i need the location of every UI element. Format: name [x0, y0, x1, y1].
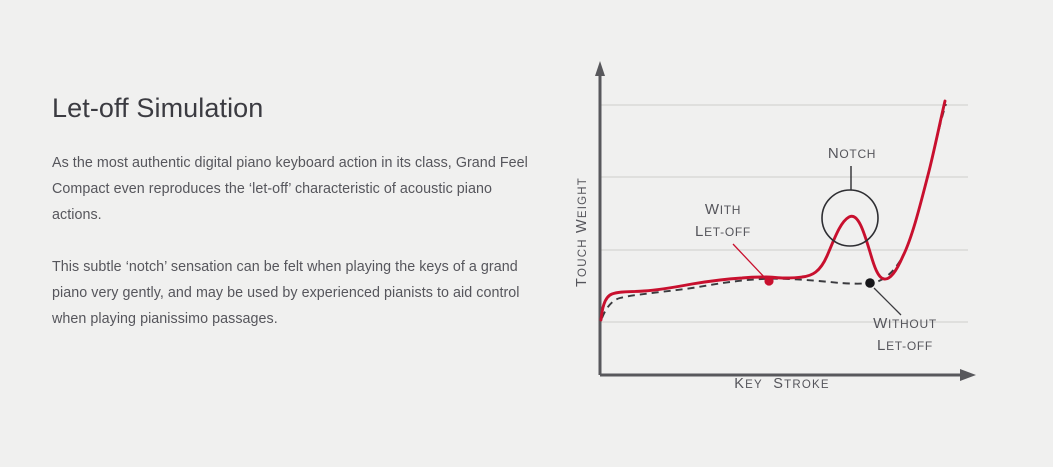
x-axis-arrow-icon — [960, 369, 976, 381]
without-label2-cap: L — [877, 337, 886, 354]
without-label-rest: ITHOUT — [888, 317, 937, 331]
x-axis-title-cap1: K — [734, 376, 745, 392]
without-label-cap: W — [873, 315, 888, 332]
without-let-off-leader-line — [874, 288, 901, 315]
x-axis-title: KEY STROKE — [734, 376, 830, 392]
article-paragraph-2: This subtle ‘notch’ sensation can be fel… — [52, 254, 532, 332]
with-label-rest: ITH — [720, 203, 741, 217]
y-axis-title-cap1: T — [574, 277, 590, 287]
without-let-off-callout-line2: LET-OFF — [877, 337, 933, 354]
without-let-off-marker-dot — [865, 278, 875, 288]
chart-svg: NOTCH WITH LET-OFF WITHOUT LET-OFF KEY S… — [560, 45, 1000, 405]
notch-callout-label: NOTCH — [828, 145, 876, 162]
y-axis-title-rest2: EIGHT — [577, 177, 589, 218]
notch-label-cap: N — [828, 145, 840, 162]
with-let-off-marker-dot — [764, 276, 773, 285]
series-with-let-off-line — [601, 101, 945, 320]
with-let-off-callout-line2: LET-OFF — [695, 223, 751, 240]
series-without-let-off-line — [602, 104, 946, 318]
x-axis-title-cap2: S — [773, 376, 784, 392]
x-axis-title-rest1: EY — [745, 379, 763, 391]
let-off-chart: NOTCH WITH LET-OFF WITHOUT LET-OFF KEY S… — [560, 45, 1000, 405]
x-axis-title-rest2: TROKE — [784, 379, 830, 391]
page-root: Let-off Simulation As the most authentic… — [0, 0, 1053, 467]
with-label-cap: W — [705, 201, 720, 218]
article-text-column: Let-off Simulation As the most authentic… — [52, 92, 532, 332]
y-axis-arrow-icon — [595, 61, 605, 76]
y-axis-title: TOUCH WEIGHT — [574, 177, 590, 287]
article-paragraph-1: As the most authentic digital piano keyb… — [52, 150, 532, 228]
y-axis-title-rest1: OUCH — [577, 238, 589, 277]
without-let-off-callout-line1: WITHOUT — [873, 315, 937, 332]
with-let-off-callout-line1: WITH — [705, 201, 741, 218]
chart-axes — [595, 61, 976, 381]
with-label2-cap: L — [695, 223, 704, 240]
page-title: Let-off Simulation — [52, 92, 532, 124]
with-label2-rest: ET-OFF — [704, 225, 751, 239]
notch-label-rest: OTCH — [839, 147, 876, 161]
without-label2-rest: ET-OFF — [886, 339, 933, 353]
y-axis-title-cap2: W — [574, 218, 590, 233]
with-let-off-leader-line — [733, 244, 766, 279]
